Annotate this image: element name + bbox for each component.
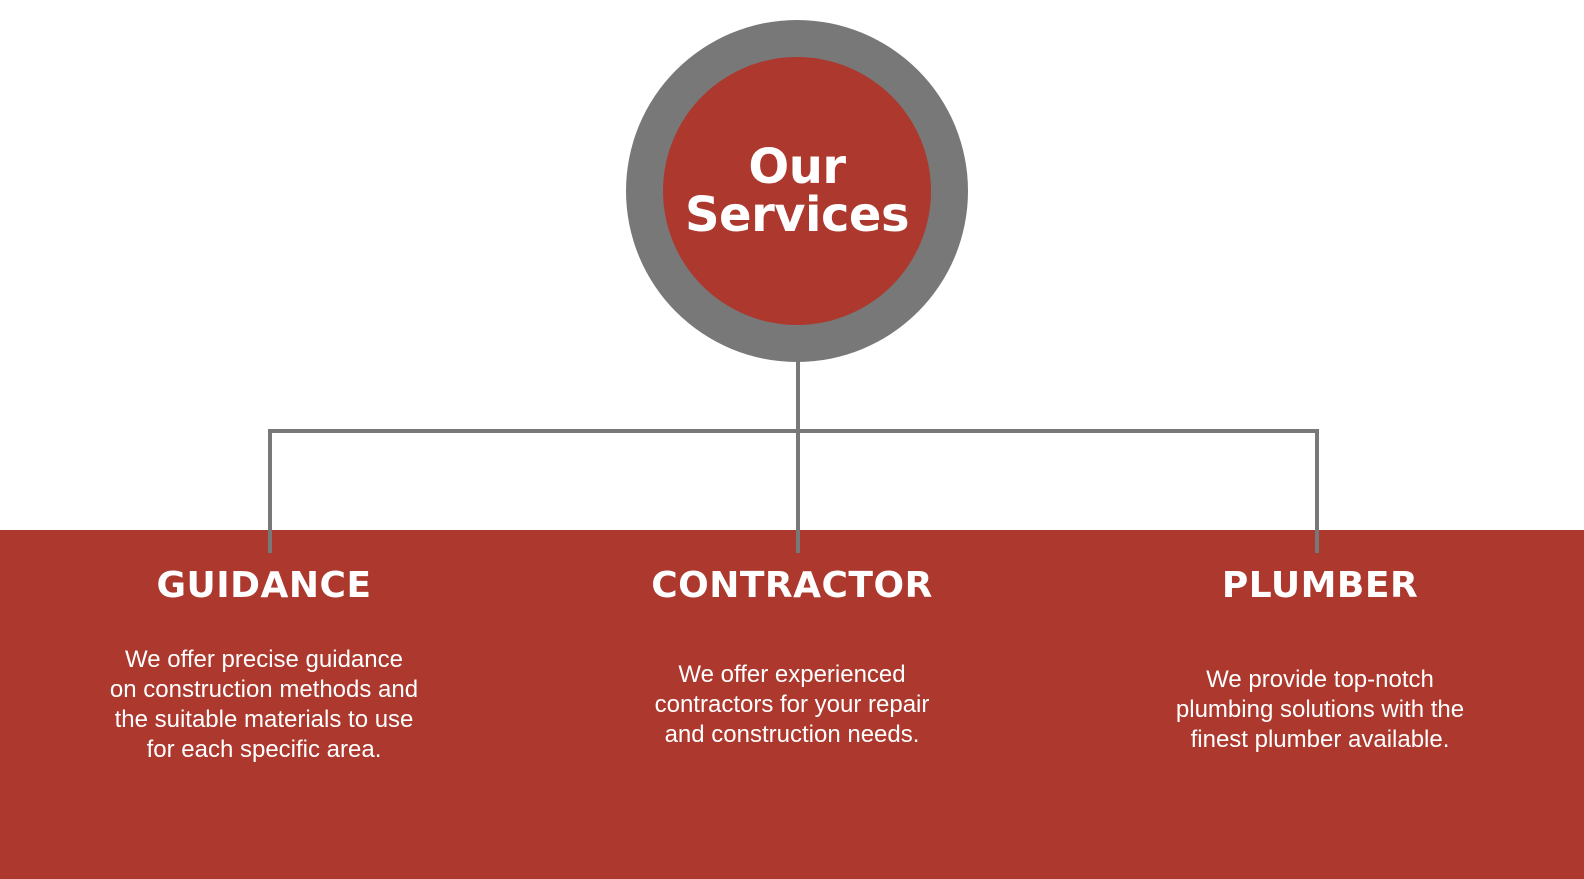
hub-circle: Our Services — [663, 57, 931, 325]
service-description-contractor: We offer experienced contractors for you… — [635, 660, 950, 750]
service-description-plumber: We provide top-notch plumbing solutions … — [1158, 665, 1483, 755]
services-diagram: Our Services GUIDANCE We offer precise g… — [0, 0, 1584, 879]
service-column-guidance: GUIDANCE We offer precise guidance on co… — [0, 530, 528, 879]
connector-crossbar-line — [268, 429, 1319, 433]
hub-label: Our Services — [685, 143, 909, 239]
service-title-plumber: PLUMBER — [1222, 568, 1418, 604]
connector-trunk-line — [796, 352, 800, 433]
service-column-contractor: CONTRACTOR We offer experienced contract… — [528, 530, 1056, 879]
service-columns: GUIDANCE We offer precise guidance on co… — [0, 530, 1584, 879]
service-column-plumber: PLUMBER We provide top-notch plumbing so… — [1056, 530, 1584, 879]
service-title-contractor: CONTRACTOR — [651, 568, 933, 604]
service-title-guidance: GUIDANCE — [156, 568, 371, 604]
service-description-guidance: We offer precise guidance on constructio… — [109, 645, 419, 765]
